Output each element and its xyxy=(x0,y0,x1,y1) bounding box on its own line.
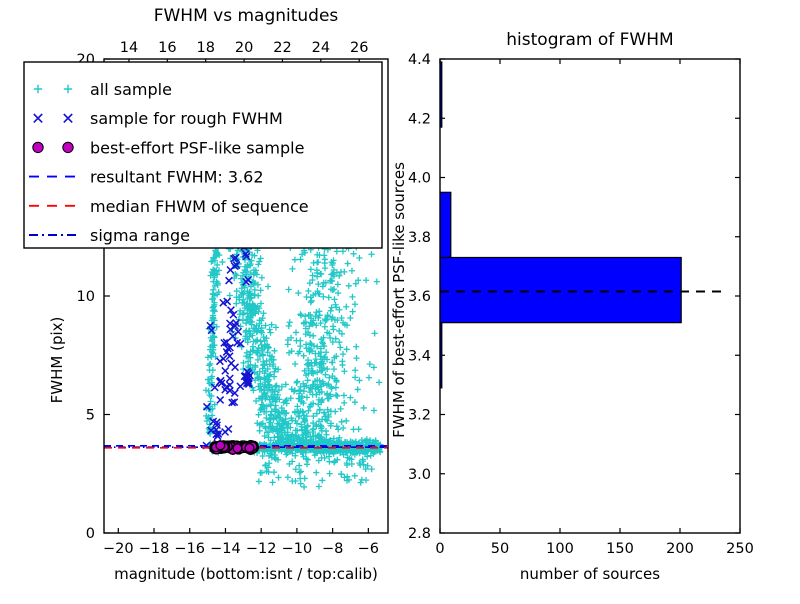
right-y-tick-labels: 2.83.03.23.43.63.84.04.24.4 xyxy=(408,52,431,542)
left-y-tick-label: 5 xyxy=(86,408,95,424)
right-y-tick-label: 3.6 xyxy=(408,289,431,305)
legend-box: all samplesample for rough FWHMbest-effo… xyxy=(24,62,382,248)
left-bottom-tick-label: −8 xyxy=(322,541,343,557)
right-x-tick-label: 150 xyxy=(606,541,634,557)
legend-item-label: resultant FWHM: 3.62 xyxy=(90,168,264,187)
right-xlabel: number of sources xyxy=(520,565,660,583)
left-ylabel: FWHM (pix) xyxy=(48,317,66,404)
right-x-tick-label: 100 xyxy=(546,541,574,557)
right-y-tick-label: 2.8 xyxy=(408,526,431,542)
right-x-tick-label: 0 xyxy=(435,541,444,557)
dot-marker xyxy=(63,142,73,152)
right-y-tick-label: 3.8 xyxy=(408,230,431,246)
matplotlib-figure: FWHM vs magnitudes 14161820222426 −20−18… xyxy=(0,0,800,600)
left-top-tick-label: 14 xyxy=(120,40,138,56)
left-bottom-tick-label: −16 xyxy=(174,541,205,557)
histogram-bar xyxy=(440,257,681,322)
left-top-tick-label: 16 xyxy=(158,40,176,56)
right-ylabel: FWHM of best-effort PSF-like sources xyxy=(390,162,408,438)
left-bottom-tick-label: −6 xyxy=(358,541,379,557)
dot-marker xyxy=(33,142,43,152)
right-y-tick-label: 3.0 xyxy=(408,467,431,483)
right-y-tick-label: 4.4 xyxy=(408,52,431,68)
left-y-tick-label: 10 xyxy=(77,289,95,305)
psf-dot-marker xyxy=(233,444,242,453)
left-top-tick-label: 20 xyxy=(235,40,253,56)
right-x-tick-label: 50 xyxy=(491,541,509,557)
left-top-tick-label: 18 xyxy=(196,40,214,56)
left-title-text: FWHM vs magnitudes xyxy=(154,6,339,26)
left-top-tick-label: 22 xyxy=(273,40,291,56)
left-xlabel: magnitude (bottom:isnt / top:calib) xyxy=(114,565,378,583)
right-y-tick-label: 4.2 xyxy=(408,111,431,127)
series-best-effort-psf-like-sample xyxy=(210,441,258,455)
right-x-tick-label: 200 xyxy=(666,541,694,557)
left-bottom-tick-label: −12 xyxy=(246,541,277,557)
psf-dot-marker xyxy=(216,441,225,450)
left-bottom-tick-label: −20 xyxy=(103,541,134,557)
figure-canvas: FWHM vs magnitudes 14161820222426 −20−18… xyxy=(0,0,800,600)
left-bottom-tick-label: −10 xyxy=(282,541,313,557)
psf-dot-marker xyxy=(245,444,254,453)
left-top-tick-label: 24 xyxy=(312,40,330,56)
right-panel-histogram: histogram of FWHM 050100150200250 2.83.0… xyxy=(390,30,754,583)
right-title-text: histogram of FWHM xyxy=(506,30,673,50)
right-y-tick-label: 3.2 xyxy=(408,408,431,424)
left-bottom-tick-label: −14 xyxy=(210,541,241,557)
legend-item-label: best-effort PSF-like sample xyxy=(90,138,304,157)
legend-item-label: sigma range xyxy=(90,226,190,245)
left-panel-title: FWHM vs magnitudes xyxy=(154,6,339,26)
legend-item-label: sample for rough FWHM xyxy=(90,109,283,128)
legend-item-label: all sample xyxy=(90,80,172,99)
legend-item-label: median FHWM of sequence xyxy=(90,197,309,216)
histogram-bar xyxy=(440,192,451,257)
left-y-tick-label: 0 xyxy=(86,526,95,542)
left-bottom-tick-label: −18 xyxy=(139,541,170,557)
right-y-tick-label: 3.4 xyxy=(408,348,431,364)
left-top-tick-label: 26 xyxy=(350,40,368,56)
right-x-tick-label: 250 xyxy=(726,541,754,557)
right-y-tick-label: 4.0 xyxy=(408,171,431,187)
